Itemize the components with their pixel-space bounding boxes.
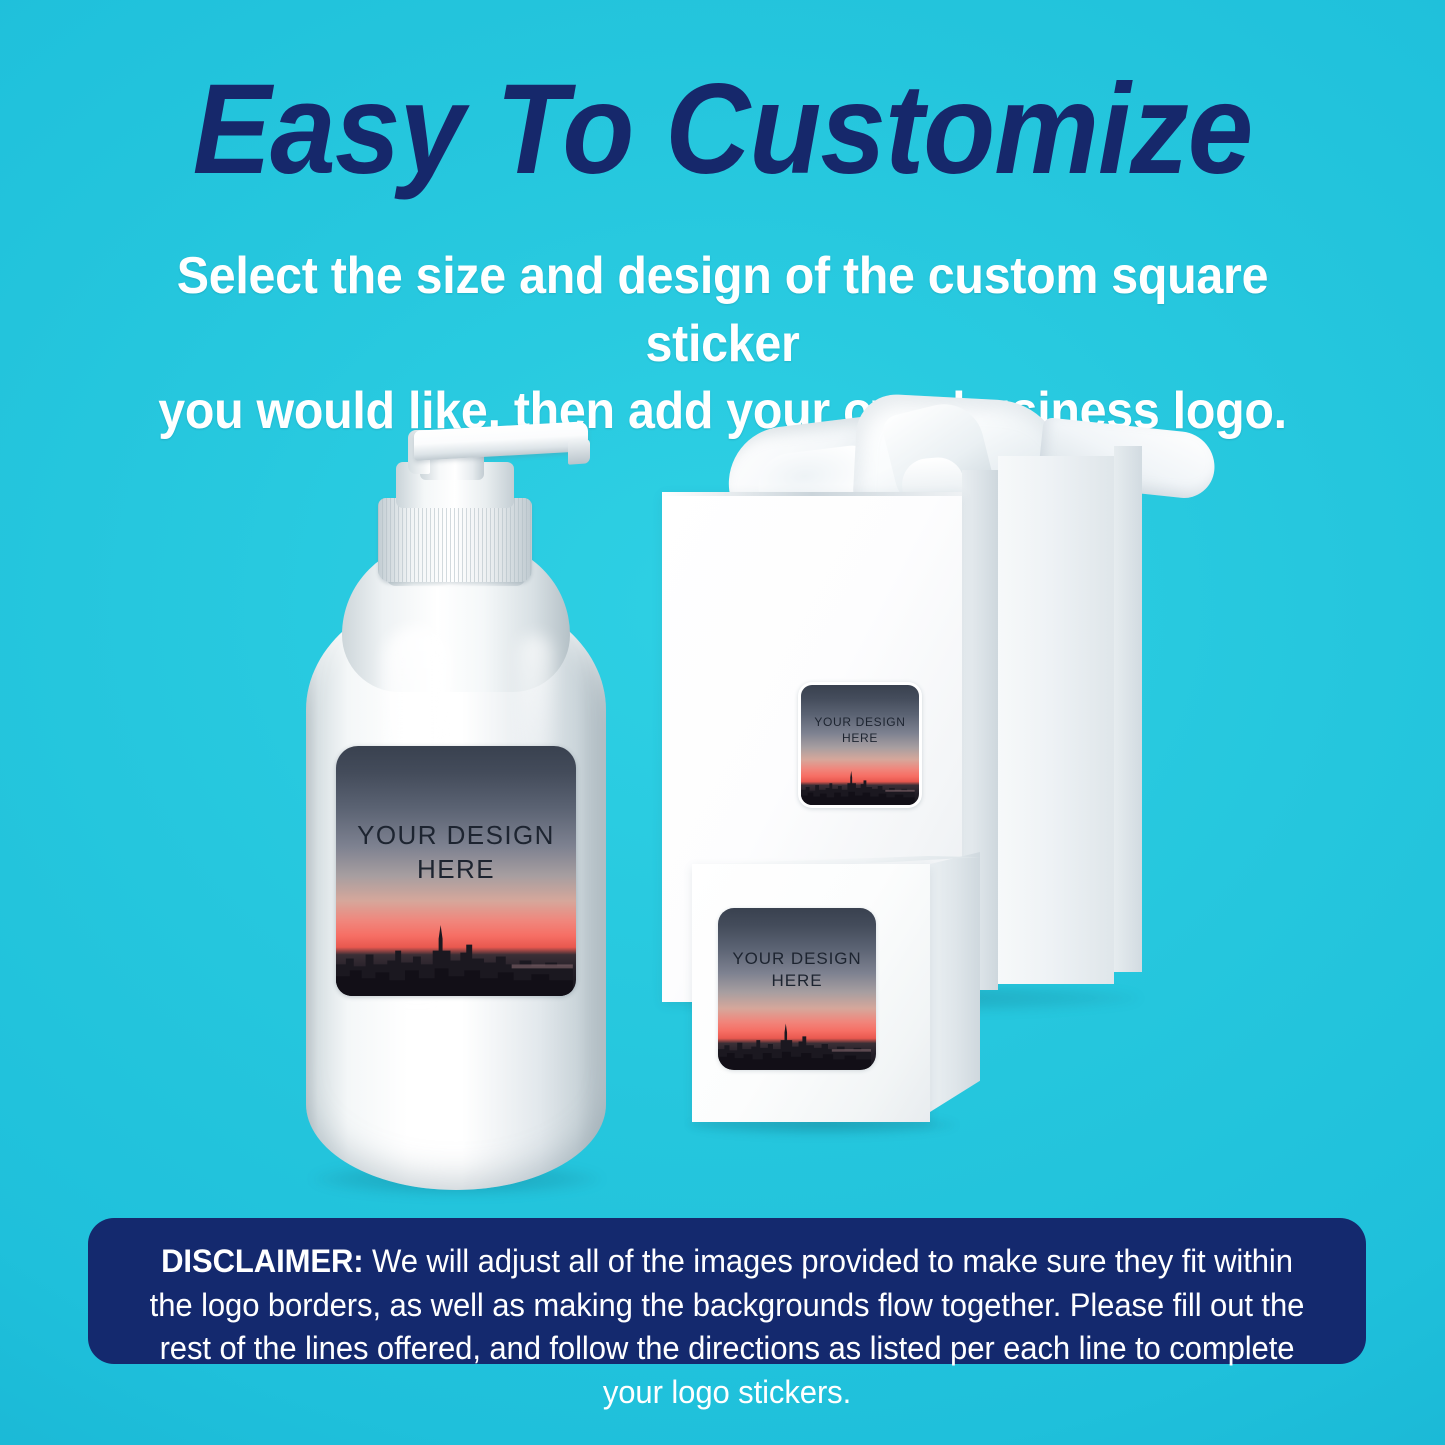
sticker-placeholder-text: YOUR DESIGN HERE [801,715,919,747]
gift-box-lid-line [662,492,962,496]
bottle-label-sticker: YOUR DESIGN HERE [336,746,576,996]
disclaimer-label: DISCLAIMER: [161,1243,363,1279]
gift-box-sticker-border: YOUR DESIGN HERE [798,682,922,808]
sticker-placeholder-text: YOUR DESIGN HERE [718,948,876,993]
gift-box-side-panel [998,456,1114,984]
small-box-sticker: YOUR DESIGN HERE [718,908,876,1070]
gift-box-far-edge [1114,446,1142,972]
pump-bottle-mockup: YOUR DESIGN HERE [268,420,648,1200]
pump-nozzle-arm [414,421,588,461]
subtitle-line-1: Select the size and design of the custom… [155,243,1291,378]
pump-collar-ribbed [378,498,532,582]
disclaimer-banner: DISCLAIMER: We will adjust all of the im… [88,1218,1366,1364]
promo-graphic: Easy To Customize Select the size and de… [0,0,1445,1445]
city-skyline-icon [801,769,915,805]
sticker-placeholder-text: YOUR DESIGN HERE [336,818,576,887]
pump-nozzle-tip [568,439,590,465]
page-title: Easy To Customize [58,66,1387,194]
city-skyline-icon [336,921,573,996]
city-skyline-icon [718,1021,871,1070]
disclaimer-text: DISCLAIMER: We will adjust all of the im… [144,1240,1310,1414]
small-box-side-panel [930,852,980,1112]
small-box-mockup: YOUR DESIGN HERE [662,846,982,1156]
gift-box-sticker: YOUR DESIGN HERE [801,685,919,805]
